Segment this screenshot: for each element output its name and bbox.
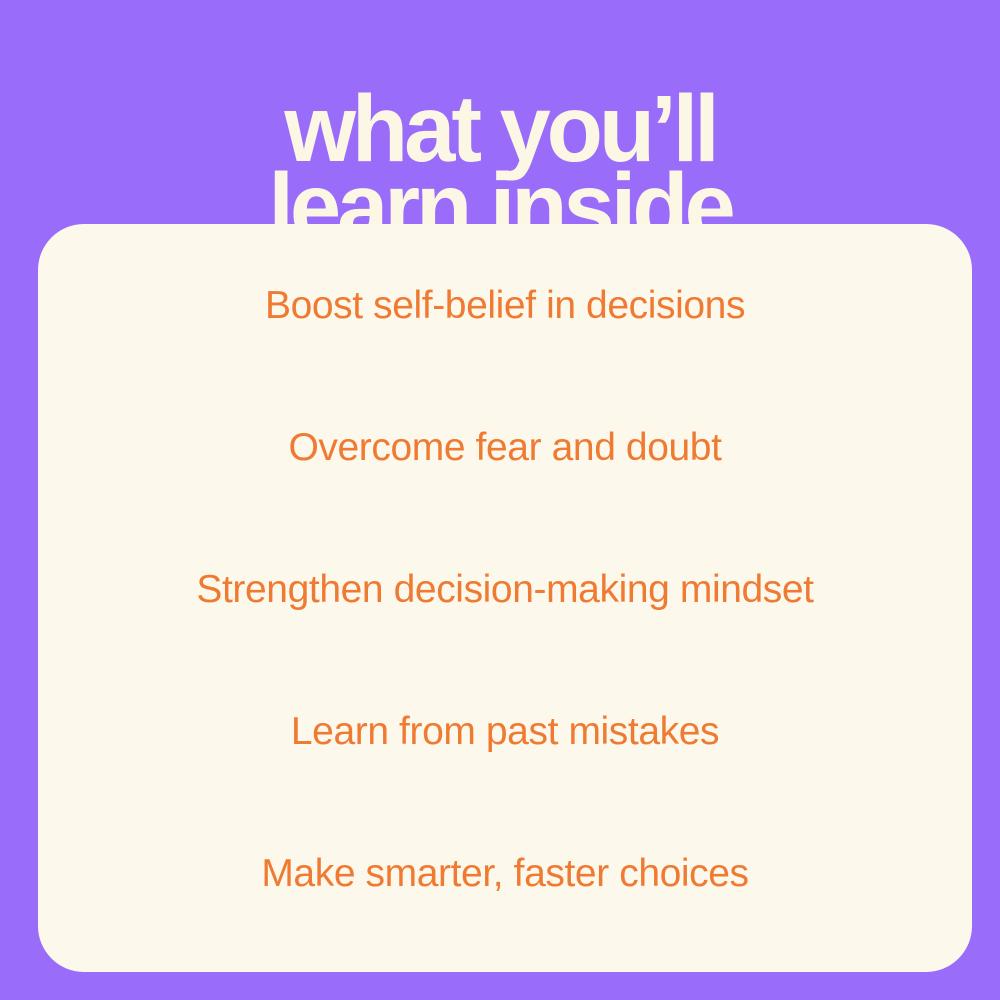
list-item: Overcome fear and doubt xyxy=(78,422,932,474)
list-item: Strengthen decision-making mindset xyxy=(78,564,932,616)
page-title: what you’ll learn inside xyxy=(15,90,985,246)
benefits-list: Boost self-belief in decisions Overcome … xyxy=(78,280,932,900)
list-item: Learn from past mistakes xyxy=(78,706,932,758)
list-item: Boost self-belief in decisions xyxy=(78,280,932,332)
promo-poster: what you’ll learn inside Boost self-beli… xyxy=(0,0,1000,1000)
benefits-card: Boost self-belief in decisions Overcome … xyxy=(38,224,972,972)
list-item: Make smarter, faster choices xyxy=(78,848,932,900)
